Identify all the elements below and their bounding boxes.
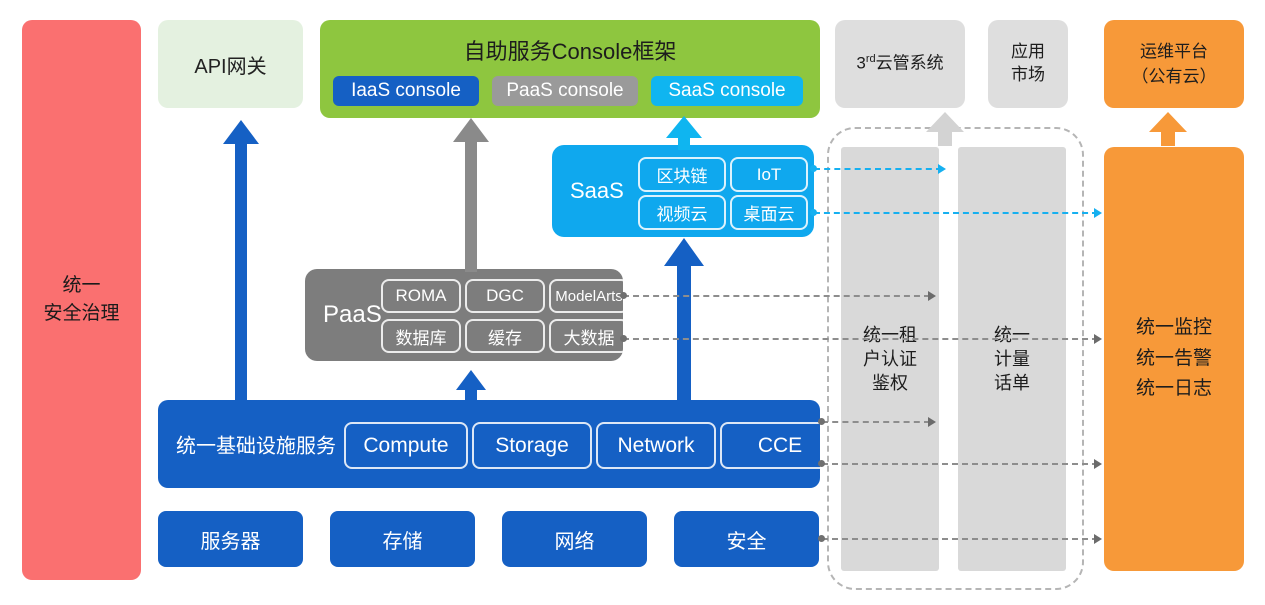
unified-infrastructure-service-bar[interactable]: 统一基础设施服务 Compute Storage Network CCE <box>158 400 820 488</box>
saas-item-blockchain-label: 区块链 <box>657 162 708 187</box>
arrow-infra-to-saas <box>663 232 705 404</box>
third-party-prefix: 3 <box>856 54 865 73</box>
hardware-security-box[interactable]: 安全 <box>674 511 819 567</box>
paas-console-label: PaaS console <box>506 80 623 102</box>
infra-item-storage[interactable]: Storage <box>472 422 592 469</box>
security-panel-text: 统一 安全治理 <box>43 272 119 327</box>
arrow-into-third-party-cloud-mgmt <box>925 110 965 146</box>
paas-item-roma-label: ROMA <box>396 286 447 306</box>
ops-platform-top-line1: 运维平台 <box>1132 39 1217 65</box>
saas-layer-label: SaaS <box>570 178 624 204</box>
third-party-label: 3rd云管系统 <box>856 52 943 76</box>
dashed-line-paas-to-ops-platform <box>623 338 1098 340</box>
paas-item-cache[interactable]: 缓存 <box>465 319 545 353</box>
self-service-console-frame[interactable]: 自助服务Console框架 IaaS console PaaS console … <box>320 20 820 118</box>
unified-metering-billing-column[interactable]: 统一 计量 话单 <box>958 147 1066 571</box>
arrowhead-infra-to-ops-platform <box>1094 459 1102 469</box>
arrow-infra-to-paas <box>455 366 487 404</box>
ops-right-line3: 统一日志 <box>1136 374 1212 404</box>
paas-console-chip[interactable]: PaaS console <box>492 76 638 106</box>
dashed-line-infra-to-tenant-auth <box>822 421 930 423</box>
iaas-console-label: IaaS console <box>351 80 461 102</box>
paas-item-bigdata[interactable]: 大数据 <box>549 319 629 353</box>
api-gateway-box[interactable]: API网关 <box>158 20 303 108</box>
hardware-security-label: 安全 <box>727 525 767 554</box>
infra-item-network[interactable]: Network <box>596 422 716 469</box>
paas-item-dgc[interactable]: DGC <box>465 279 545 313</box>
infrastructure-label: 统一基础设施服务 <box>176 430 336 459</box>
dashed-line-paas-to-tenant-auth <box>623 295 930 297</box>
app-market-line2: 市场 <box>1011 64 1045 87</box>
dot-saas-cyan-1 <box>810 165 817 172</box>
hardware-server-box[interactable]: 服务器 <box>158 511 303 567</box>
arrowhead-paas-to-tenant-auth <box>928 291 936 301</box>
ops-platform-top-text: 运维平台 （公有云） <box>1132 39 1217 90</box>
ops-platform-public-cloud-box[interactable]: 运维平台 （公有云） <box>1104 20 1244 108</box>
unified-monitoring-alarm-log-panel[interactable]: 统一监控 统一告警 统一日志 <box>1104 147 1244 571</box>
hardware-storage-box[interactable]: 存储 <box>330 511 475 567</box>
dot-infra-1 <box>818 418 825 425</box>
hardware-storage-label: 存储 <box>383 525 423 554</box>
paas-item-modelarts-label: ModelArts <box>555 288 623 305</box>
saas-console-chip[interactable]: SaaS console <box>651 76 803 106</box>
dashed-line-hardware-to-ops-platform <box>822 538 1098 540</box>
app-market-box[interactable]: 应用 市场 <box>988 20 1068 108</box>
hardware-network-box[interactable]: 网络 <box>502 511 647 567</box>
ops-right-line2: 统一告警 <box>1136 344 1212 374</box>
saas-item-iot[interactable]: IoT <box>730 157 808 192</box>
architecture-diagram: 统一 安全治理 API网关 自助服务Console框架 IaaS console… <box>0 0 1265 605</box>
paas-item-cache-label: 缓存 <box>488 324 522 349</box>
saas-console-label: SaaS console <box>668 80 785 102</box>
unified-tenant-auth-column[interactable]: 统一租 户认证 鉴权 <box>841 147 939 571</box>
dashed-line-saas-to-ops-platform <box>814 212 1098 214</box>
unified-tenant-auth-text: 统一租 户认证 鉴权 <box>863 323 917 396</box>
third-party-cloud-mgmt-box[interactable]: 3rd云管系统 <box>835 20 965 108</box>
paas-item-bigdata-label: 大数据 <box>564 324 615 349</box>
metering-line3: 话单 <box>994 371 1030 395</box>
paas-layer-label: PaaS <box>323 301 382 329</box>
arrow-paas-to-console <box>452 112 490 272</box>
arrowhead-saas-to-tenant-auth <box>938 164 946 174</box>
arrow-saas-to-console <box>665 112 703 150</box>
iaas-console-chip[interactable]: IaaS console <box>333 76 479 106</box>
unified-metering-text: 统一 计量 话单 <box>994 323 1030 396</box>
infra-item-network-label: Network <box>617 434 694 458</box>
arrowhead-paas-to-ops-platform <box>1094 334 1102 344</box>
security-panel-line1: 统一 <box>43 272 119 300</box>
saas-item-video-cloud[interactable]: 视频云 <box>638 195 726 230</box>
app-market-text: 应用 市场 <box>1011 41 1045 87</box>
api-gateway-label: API网关 <box>194 50 266 79</box>
tenant-auth-line2: 户认证 <box>863 347 917 371</box>
dashed-line-infra-to-ops-platform <box>822 463 1098 465</box>
saas-item-desktop-cloud-label: 桌面云 <box>744 200 795 225</box>
ops-right-text: 统一监控 统一告警 统一日志 <box>1136 313 1212 404</box>
app-market-line1: 应用 <box>1011 41 1045 64</box>
dot-hardware-1 <box>818 535 825 542</box>
metering-line1: 统一 <box>994 323 1030 347</box>
paas-item-database[interactable]: 数据库 <box>381 319 461 353</box>
arrowhead-saas-to-ops-platform <box>1094 208 1102 218</box>
dot-paas-1 <box>620 292 627 299</box>
infra-item-storage-label: Storage <box>495 434 569 458</box>
third-party-suffix: 云管系统 <box>876 54 944 73</box>
dashed-line-saas-to-tenant-auth <box>814 168 942 170</box>
hardware-server-label: 服务器 <box>201 525 261 554</box>
metering-line2: 计量 <box>994 347 1030 371</box>
third-party-sup: rd <box>866 53 876 65</box>
arrow-infra-to-api-gateway <box>222 110 260 402</box>
console-frame-title: 自助服务Console框架 <box>320 34 820 66</box>
paas-item-dgc-label: DGC <box>486 286 524 306</box>
paas-item-modelarts[interactable]: ModelArts <box>549 279 629 313</box>
infra-item-cce-label: CCE <box>758 434 802 458</box>
saas-layer-box[interactable]: SaaS 区块链 IoT 视频云 桌面云 <box>552 145 814 237</box>
paas-item-roma[interactable]: ROMA <box>381 279 461 313</box>
dot-infra-2 <box>818 460 825 467</box>
tenant-auth-line1: 统一租 <box>863 323 917 347</box>
security-panel-line2: 安全治理 <box>43 300 119 328</box>
paas-layer-box[interactable]: PaaS ROMA DGC ModelArts 数据库 缓存 大数据 <box>305 269 623 361</box>
ops-right-line1: 统一监控 <box>1136 313 1212 343</box>
tenant-auth-line3: 鉴权 <box>863 371 917 395</box>
infra-item-compute[interactable]: Compute <box>344 422 468 469</box>
paas-item-database-label: 数据库 <box>396 324 447 349</box>
arrow-into-ops-platform-public-cloud <box>1148 110 1188 146</box>
dot-paas-2 <box>620 335 627 342</box>
saas-item-iot-label: IoT <box>757 165 782 185</box>
ops-platform-top-line2: （公有云） <box>1132 64 1217 90</box>
dot-saas-cyan-2 <box>810 209 817 216</box>
hardware-network-label: 网络 <box>555 525 595 554</box>
saas-item-blockchain[interactable]: 区块链 <box>638 157 726 192</box>
infra-item-compute-label: Compute <box>363 434 448 458</box>
unified-security-governance-panel[interactable]: 统一 安全治理 <box>22 20 141 580</box>
saas-item-video-cloud-label: 视频云 <box>657 200 708 225</box>
arrowhead-hardware-to-ops-platform <box>1094 534 1102 544</box>
arrowhead-infra-to-tenant-auth <box>928 417 936 427</box>
saas-item-desktop-cloud[interactable]: 桌面云 <box>730 195 808 230</box>
